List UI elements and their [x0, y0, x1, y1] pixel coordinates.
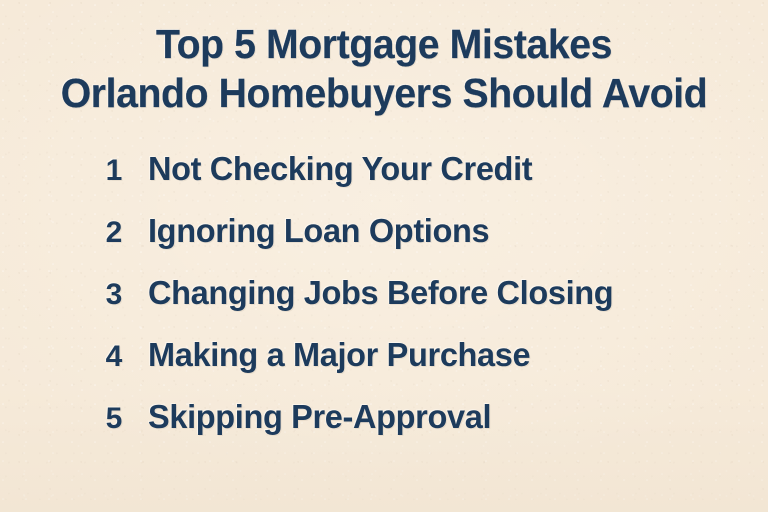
list-item-label: Not Checking Your Credit — [148, 150, 532, 188]
list-item: 5 Skipping Pre-Approval — [0, 398, 768, 460]
list-item: 2 Ignoring Loan Options — [0, 212, 768, 274]
list-item: 4 Making a Major Purchase — [0, 336, 768, 398]
page-title-line-2: Orlando Homebuyers Should Avoid — [17, 73, 750, 114]
mistakes-list: 1 Not Checking Your Credit 2 Ignoring Lo… — [0, 150, 768, 460]
list-item-label: Ignoring Loan Options — [148, 212, 489, 250]
list-item-number: 2 — [96, 216, 122, 250]
list-item-label: Making a Major Purchase — [148, 336, 530, 374]
page-title: Top 5 Mortgage Mistakes Orlando Homebuye… — [0, 24, 768, 114]
list-item: 3 Changing Jobs Before Closing — [0, 274, 768, 336]
page-title-line-1: Top 5 Mortgage Mistakes — [17, 24, 750, 65]
list-item-number: 1 — [96, 154, 122, 188]
list-item-label: Skipping Pre-Approval — [148, 398, 491, 436]
list-item-number: 4 — [96, 340, 122, 374]
list-item-label: Changing Jobs Before Closing — [148, 274, 613, 312]
infographic-poster: Top 5 Mortgage Mistakes Orlando Homebuye… — [0, 0, 768, 512]
list-item-number: 3 — [96, 278, 122, 312]
list-item-number: 5 — [96, 402, 122, 436]
list-item: 1 Not Checking Your Credit — [0, 150, 768, 212]
